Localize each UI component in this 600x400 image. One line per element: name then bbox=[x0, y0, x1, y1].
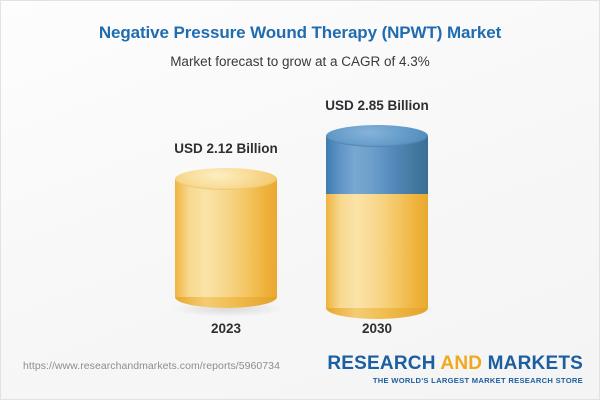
chart-plot-area: USD 2.12 Billion 2023 USD 2.85 Billion bbox=[1, 1, 600, 346]
cylinder-top-cap-2023 bbox=[175, 168, 277, 190]
logo-tagline: THE WORLD'S LARGEST MARKET RESEARCH STOR… bbox=[327, 376, 583, 385]
bar-value-label-2030: USD 2.85 Billion bbox=[277, 98, 477, 113]
cylinder-body-base-2030 bbox=[326, 183, 428, 308]
report-url-link[interactable]: https://www.researchandmarkets.com/repor… bbox=[23, 360, 280, 372]
bar-category-label-2030: 2030 bbox=[277, 321, 477, 336]
infographic-card: Negative Pressure Wound Therapy (NPWT) M… bbox=[0, 0, 600, 400]
logo-word-and: AND bbox=[440, 353, 482, 374]
bar-value-label-2023: USD 2.12 Billion bbox=[126, 141, 326, 156]
research-and-markets-logo[interactable]: RESEARCH AND MARKETS THE WORLD'S LARGEST… bbox=[327, 354, 583, 385]
cylinder-body-2023 bbox=[175, 179, 277, 297]
logo-word-research: RESEARCH bbox=[327, 353, 435, 374]
logo-wordmark: RESEARCH AND MARKETS bbox=[327, 354, 583, 374]
footer: https://www.researchandmarkets.com/repor… bbox=[1, 344, 600, 399]
cylinder-top-cap-2030 bbox=[326, 125, 428, 147]
logo-word-markets: MARKETS bbox=[488, 353, 583, 374]
